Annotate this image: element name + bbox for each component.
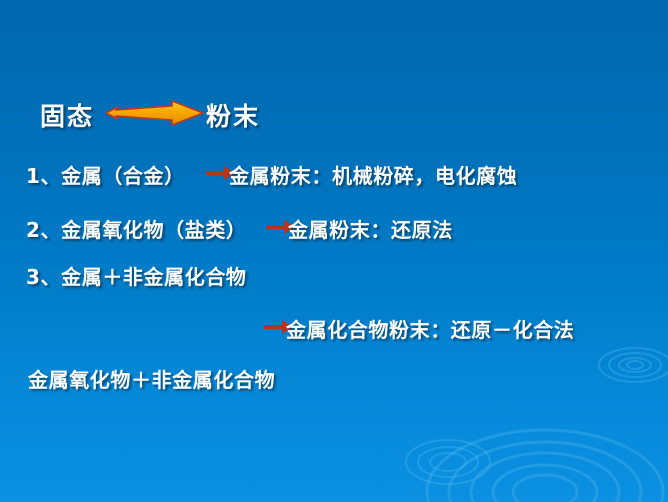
title-left-term: 固态 xyxy=(40,97,94,133)
water-ripple-icon xyxy=(0,0,668,502)
list-item-1-after-arrow: 金属粉末：机械粉碎，电化腐蚀 xyxy=(229,160,517,189)
gold-right-arrow-icon xyxy=(106,100,204,126)
title-right-term: 粉末 xyxy=(206,97,260,133)
list-item-1-before-arrow: 1、金属（合金） xyxy=(26,160,185,189)
list-item-4-after-arrow: 金属化合物粉末：还原－化合法 xyxy=(286,314,574,343)
list-item-2-after-arrow: 金属粉末：还原法 xyxy=(288,214,453,243)
list-item-3-before-arrow: 3、金属＋非金属化合物 xyxy=(26,261,247,290)
presentation-slide: 固态 粉末 1、金属（合金） 金属粉末：机械粉碎，电化腐蚀 2、金属氧化物（盐类… xyxy=(0,0,668,502)
list-item-2-before-arrow: 2、金属氧化物（盐类） xyxy=(26,214,247,243)
list-item-5-before-arrow: 金属氧化物＋非金属化合物 xyxy=(28,364,275,393)
